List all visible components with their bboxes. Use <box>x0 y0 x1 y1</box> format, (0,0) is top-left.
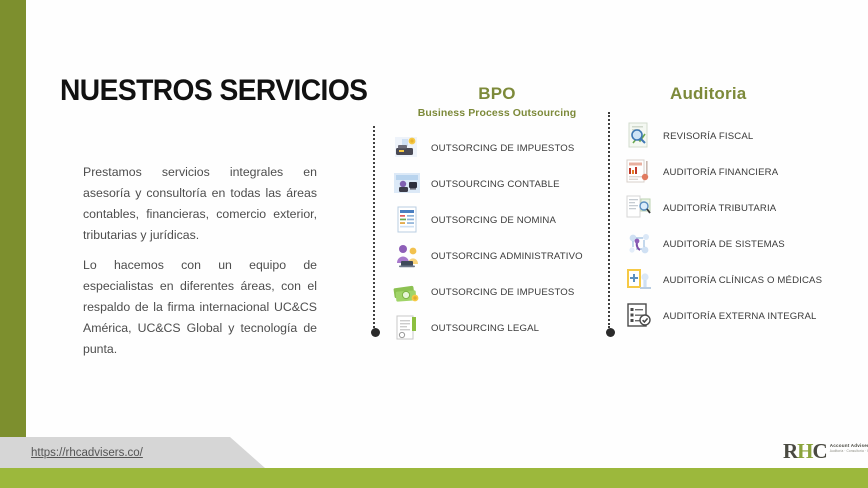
list-item-label: OUTSORCING DE IMPUESTOS <box>431 287 574 298</box>
logo-mark: RHC <box>783 441 827 461</box>
list-item[interactable]: AUDITORÍA EXTERNA INTEGRAL <box>624 302 854 330</box>
list-item-label: OUTSORCING DE NOMINA <box>431 215 556 226</box>
rhc-logo: RHC Account Advisers Auditoría · Consult… <box>783 441 868 461</box>
bpo-service-list: OUTSORCING DE IMPUESTOS OUTSOURCING CONT… <box>392 133 602 343</box>
list-item[interactable]: OUTSORCING ADMINISTRATIVO <box>392 241 602 271</box>
banknotes-coins-icon <box>392 277 422 307</box>
people-laptop-icon <box>392 241 422 271</box>
list-item-label: OUTSORCING ADMINISTRATIVO <box>431 251 583 262</box>
list-item-label: AUDITORÍA DE SISTEMAS <box>663 239 785 250</box>
checklist-approved-icon <box>624 301 654 331</box>
slide-canvas: NUESTROS SERVICIOS Prestamos servicios i… <box>0 0 868 488</box>
logo-letter-h: H <box>797 439 812 463</box>
footer-green-bar <box>0 468 868 488</box>
list-item[interactable]: OUTSOURCING LEGAL <box>392 313 602 343</box>
logo-letter-r: R <box>783 439 797 463</box>
list-item[interactable]: OUTSORCING DE NOMINA <box>392 205 602 235</box>
tax-review-icon <box>624 193 654 223</box>
left-accent-bar <box>0 0 26 437</box>
column-divider-right <box>608 112 612 328</box>
money-cash-register-icon <box>392 133 422 163</box>
column-divider-left <box>373 126 377 328</box>
bpo-subheading: Business Process Outsourcing <box>392 107 602 119</box>
intro-paragraph-1: Prestamos servicios integrales en asesor… <box>83 162 317 246</box>
list-item[interactable]: AUDITORÍA DE SISTEMAS <box>624 230 854 258</box>
page-title: NUESTROS SERVICIOS <box>60 74 367 108</box>
list-item[interactable]: AUDITORÍA FINANCIERA <box>624 158 854 186</box>
logo-text-block: Account Advisers Auditoría · Consultoría… <box>830 443 868 453</box>
auditoria-column: Auditoria REVISORÍA FISCAL <box>624 84 854 338</box>
list-item[interactable]: OUTSORCING DE IMPUESTOS <box>392 133 602 163</box>
list-item[interactable]: AUDITORÍA TRIBUTARIA <box>624 194 854 222</box>
intro-paragraph-2: Lo hacemos con un equipo de especialista… <box>83 255 317 360</box>
list-item-label: AUDITORÍA FINANCIERA <box>663 167 778 178</box>
accounting-desk-icon <box>392 169 422 199</box>
list-item-label: OUTSOURCING CONTABLE <box>431 179 560 190</box>
systems-network-icon <box>624 229 654 259</box>
list-item-label: OUTSORCING DE IMPUESTOS <box>431 143 574 154</box>
bpo-column: BPO Business Process Outsourcing OUTSORC… <box>392 84 602 349</box>
payroll-document-icon <box>392 205 422 235</box>
auditoria-heading: Auditoria <box>624 84 854 104</box>
document-magnifier-icon <box>624 121 654 151</box>
logo-letter-c: C <box>813 439 827 463</box>
list-item[interactable]: AUDITORÍA CLÍNICAS O MÉDICAS <box>624 266 854 294</box>
legal-document-icon <box>392 313 422 343</box>
auditoria-service-list: REVISORÍA FISCAL AUD <box>624 122 854 330</box>
divider-dot-icon <box>606 328 615 337</box>
list-item[interactable]: OUTSOURCING CONTABLE <box>392 169 602 199</box>
logo-company-name: Account Advisers <box>830 443 868 448</box>
list-item[interactable]: OUTSORCING DE IMPUESTOS <box>392 277 602 307</box>
footer-website-link[interactable]: https://rhcadvisers.co/ <box>31 447 143 459</box>
list-item-label: AUDITORÍA CLÍNICAS O MÉDICAS <box>663 275 822 286</box>
list-item-label: REVISORÍA FISCAL <box>663 131 753 142</box>
list-item-label: AUDITORÍA EXTERNA INTEGRAL <box>663 311 817 322</box>
list-item-label: AUDITORÍA TRIBUTARIA <box>663 203 776 214</box>
financial-report-icon <box>624 157 654 187</box>
bpo-heading: BPO <box>392 84 602 104</box>
divider-dot-icon <box>371 328 380 337</box>
clinic-board-icon <box>624 265 654 295</box>
logo-tagline: Auditoría · Consultoría · Impuestos <box>830 449 868 453</box>
list-item-label: OUTSOURCING LEGAL <box>431 323 539 334</box>
list-item[interactable]: REVISORÍA FISCAL <box>624 122 854 150</box>
